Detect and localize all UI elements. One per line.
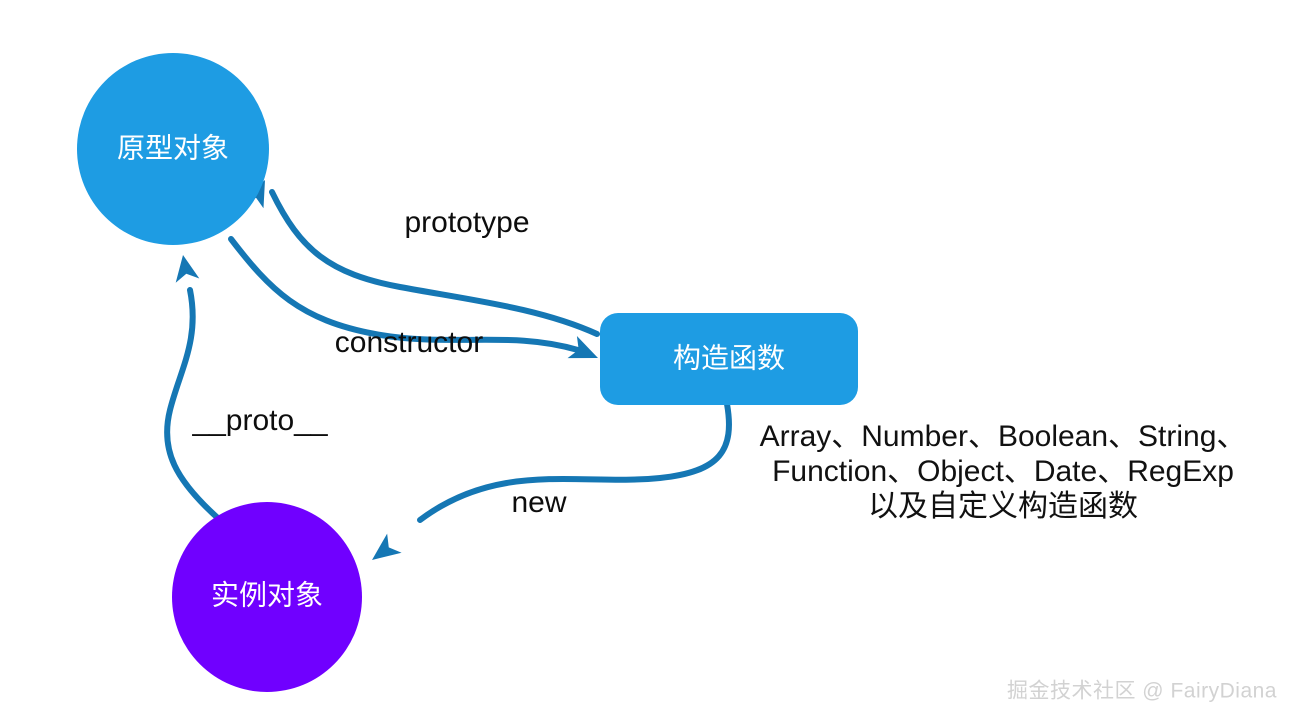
constructor-function-label: 构造函数 <box>673 342 785 373</box>
node-instance-object[interactable]: 实例对象 <box>172 502 362 692</box>
node-constructor-function[interactable]: 构造函数 <box>600 313 858 405</box>
instance-object-label: 实例对象 <box>211 579 323 610</box>
new-arrowhead <box>365 534 402 570</box>
builtins-line-2: Function、Object、Date、RegExp <box>772 455 1234 488</box>
prototype-object-label: 原型对象 <box>117 132 229 163</box>
constructor-arrowhead <box>568 336 603 369</box>
new-edge-path <box>420 404 729 520</box>
constructor-edge-label: constructor <box>335 326 483 359</box>
node-prototype-object[interactable]: 原型对象 <box>77 53 269 245</box>
edge-constructor: constructor <box>231 239 603 369</box>
diagram-canvas: prototype constructor __proto__ new 原型对象… <box>0 0 1294 728</box>
builtins-line-3: 以及自定义构造函数 <box>868 490 1138 523</box>
watermark: 掘金技术社区 @ FairyDiana <box>1007 680 1277 703</box>
proto-arrowhead <box>171 253 199 283</box>
builtins-line-1: Array、Number、Boolean、String、 <box>760 420 1247 453</box>
prototype-chain-diagram: prototype constructor __proto__ new 原型对象… <box>0 0 1294 728</box>
prototype-edge-label: prototype <box>404 206 529 239</box>
edge-new: new <box>365 404 729 570</box>
edge-proto: __proto__ <box>167 253 329 520</box>
edge-prototype: prototype <box>244 175 597 334</box>
proto-edge-label: __proto__ <box>191 404 328 437</box>
new-edge-label: new <box>511 486 566 519</box>
builtin-constructors-note: Array、Number、Boolean、String、 Function、Ob… <box>760 420 1247 523</box>
